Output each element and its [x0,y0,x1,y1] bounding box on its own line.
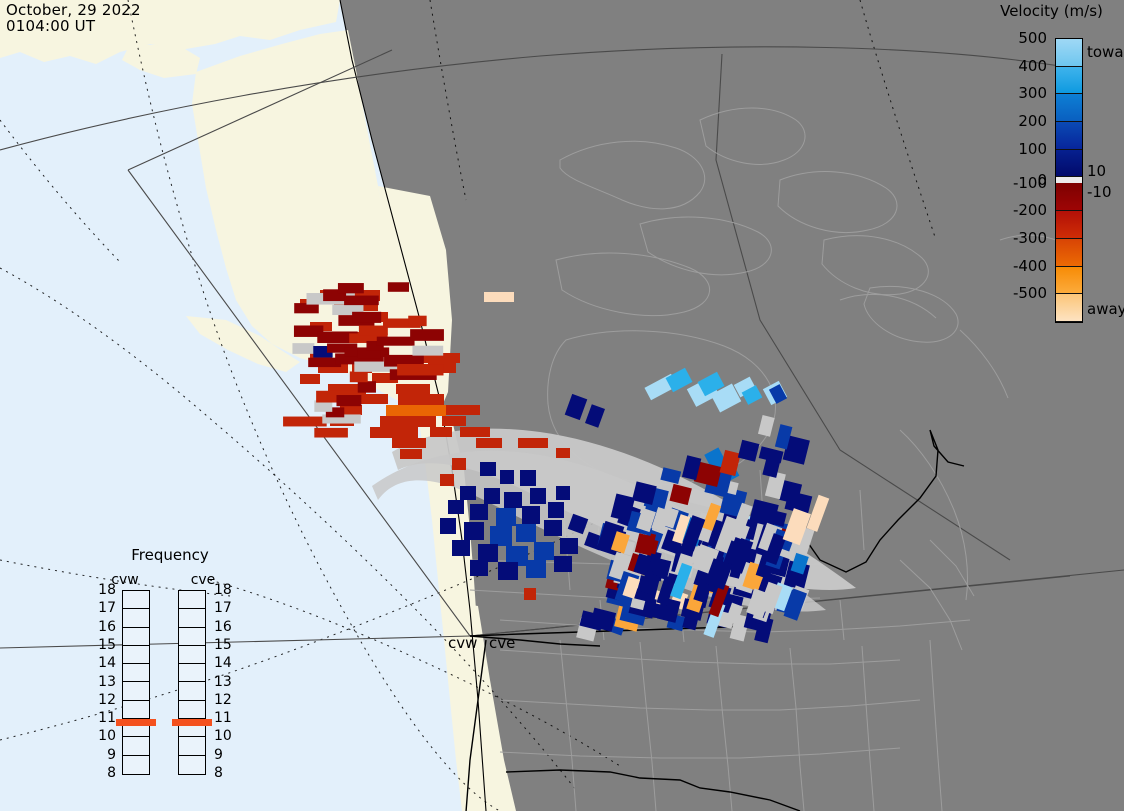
frequency-scale-label-10: 10 [94,728,116,744]
frequency-bar-segment [179,756,205,774]
velocity-cell-62[interactable] [498,562,518,580]
velocity-cell-24[interactable] [370,427,418,438]
velocity-cell-fan-nw[interactable] [412,346,443,356]
frequency-column-cve: cve18171615141312111098 [168,572,238,782]
frequency-bar-cve[interactable] [178,590,206,775]
colorbar-band--300---400 [1056,267,1082,295]
frequency-scale-label-14: 14 [214,655,232,671]
velocity-cell-fan-nw[interactable] [294,303,319,313]
frequency-bar-segment [179,682,205,700]
velocity-cell-50[interactable] [464,522,484,540]
frequency-scale-label-11: 11 [214,710,232,726]
velocity-cell-63[interactable] [526,560,546,578]
velocity-cell-fan-nw[interactable] [338,283,364,293]
velocity-cell-fan-nw[interactable] [292,343,314,354]
timestamp-block: October, 29 20220104:00 UT [6,2,141,34]
velocity-cell-37[interactable] [520,470,536,486]
frequency-marker-cve [172,719,212,726]
velocity-cell-31[interactable] [556,448,570,458]
frequency-bar-segment [123,591,149,609]
colorbar-tick-100: 100 [1018,140,1047,158]
frequency-bar-segment [123,737,149,755]
velocity-cell-41[interactable] [504,492,522,508]
superdarn-map-window: October, 29 20220104:00 UT Velocity (m/s… [0,0,1124,811]
colorbar-band--10---100 [1056,183,1082,211]
velocity-cell-47[interactable] [522,506,540,524]
velocity-cell-39[interactable] [460,486,476,500]
frequency-scale-label-15: 15 [214,637,232,653]
velocity-cell-fan-nw[interactable] [344,296,379,306]
velocity-cell-28[interactable] [476,438,502,448]
colorbar-positive-threshold-label: 10 [1087,162,1106,180]
colorbar-band--200---300 [1056,239,1082,267]
colorbar-band-10--100 [1056,150,1082,178]
colorbar-tick-neg400: -400 [1013,257,1047,275]
velocity-cell-44[interactable] [448,500,464,514]
frequency-bar-segment [123,664,149,682]
velocity-cell-26[interactable] [460,427,490,437]
frequency-marker-cvw [116,719,156,726]
velocity-cell-23[interactable] [442,416,466,426]
frequency-scale-label-10: 10 [214,728,232,744]
frequency-bar-segment [179,628,205,646]
colorbar-title: Velocity (m/s) [979,2,1124,20]
frequency-bar-segment [123,682,149,700]
colorbar-tick-500: 500 [1018,29,1047,47]
velocity-cell-36[interactable] [500,470,514,484]
frequency-bar-cvw[interactable] [122,590,150,775]
velocity-cell-40[interactable] [484,488,500,504]
velocity-cell-15[interactable] [396,384,430,394]
colorbar-band--400---500 [1056,294,1082,322]
velocity-cell-20[interactable] [446,405,480,415]
colorbar-tick-neg500: -500 [1013,284,1047,302]
velocity-cell-34[interactable] [452,458,466,470]
site-label-cve: cve [489,634,515,652]
velocity-cell-fan-nw[interactable] [283,417,327,427]
colorbar-tick-400: 400 [1018,57,1047,75]
frequency-scale-label-12: 12 [94,692,116,708]
velocity-cell-29[interactable] [518,438,548,448]
frequency-scale-label-18: 18 [94,582,116,598]
velocity-colorbar: Velocity (m/s) 5004003002001000-100-200-… [975,0,1124,340]
velocity-cell-fan-nw[interactable] [336,395,361,406]
frequency-scale-label-16: 16 [214,619,232,635]
frequency-bar-segment [179,609,205,627]
velocity-cell-25[interactable] [430,427,452,437]
velocity-cell-fan-nw[interactable] [410,329,444,341]
colorbar-tick-300: 300 [1018,84,1047,102]
colorbar-band-300--400 [1056,67,1082,95]
velocity-cell-48[interactable] [548,502,564,518]
colorbar-tick-neg100: -100 [1013,174,1047,192]
velocity-cell-19[interactable] [386,405,446,416]
frequency-scale-label-18: 18 [214,582,232,598]
frequency-bar-segment [179,646,205,664]
velocity-cell-22[interactable] [380,416,436,427]
frequency-scale-label-11: 11 [94,710,116,726]
velocity-cell-38[interactable] [440,474,454,486]
frequency-scale-label-8: 8 [94,765,116,781]
velocity-cell-fan-nw[interactable] [388,282,409,292]
velocity-cell-87[interactable] [524,588,536,600]
velocity-cell-17[interactable] [398,394,444,405]
velocity-cell-46[interactable] [496,508,516,526]
velocity-cell-64[interactable] [554,556,572,572]
velocity-cell-13[interactable] [300,374,320,384]
velocity-cell-58[interactable] [534,542,554,560]
velocity-cell-49[interactable] [440,518,456,534]
frequency-scale-label-9: 9 [94,747,116,763]
frequency-bar-segment [179,701,205,719]
colorbar-away-label: away [1087,300,1124,318]
frequency-scale-label-13: 13 [94,674,116,690]
velocity-cell-84[interactable] [484,292,514,302]
frequency-scale-label-13: 13 [214,674,232,690]
colorbar-toward-label: toward [1087,43,1124,61]
frequency-column-cvw: cvw18171615141312111098 [90,572,160,782]
frequency-scale-label-17: 17 [214,600,232,616]
colorbar-gradient-bar[interactable] [1055,38,1083,323]
velocity-cell-fan-nw[interactable] [352,312,381,323]
velocity-cell-52[interactable] [516,524,536,542]
colorbar-tick-neg200: -200 [1013,201,1047,219]
frequency-title: Frequency [90,546,250,564]
colorbar-tick-neg300: -300 [1013,229,1047,247]
frequency-legend: Frequency cvw18171615141312111098cve1817… [90,546,250,791]
velocity-cell-fan-nw[interactable] [358,381,376,392]
frequency-scale-label-14: 14 [94,655,116,671]
velocity-cell-fan-nw[interactable] [314,428,348,438]
colorbar-negative-threshold-label: -10 [1087,183,1112,201]
velocity-cell-53[interactable] [544,520,562,536]
velocity-cell-42[interactable] [530,488,546,504]
frequency-scale-label-12: 12 [214,692,232,708]
frequency-bar-segment [123,628,149,646]
velocity-cell-61[interactable] [470,560,488,576]
frequency-bar-segment [179,664,205,682]
velocity-cell-56[interactable] [478,544,498,562]
frequency-scale-label-8: 8 [214,765,223,781]
velocity-cell-45[interactable] [470,504,488,520]
colorbar-band-200--300 [1056,94,1082,122]
velocity-cell-27[interactable] [392,438,426,448]
velocity-cell-55[interactable] [452,540,470,556]
colorbar-band--100---200 [1056,211,1082,239]
velocity-cell-fan-nw[interactable] [377,337,415,346]
frequency-scale-label-16: 16 [94,619,116,635]
colorbar-band-400--500 [1056,39,1082,67]
velocity-cell-35[interactable] [480,462,496,476]
frequency-bar-segment [123,756,149,774]
velocity-cell-30[interactable] [400,449,422,459]
velocity-cell-fan-nw[interactable] [408,316,426,326]
frequency-scale-label-15: 15 [94,637,116,653]
frequency-bar-segment [179,737,205,755]
frequency-bar-segment [179,591,205,609]
velocity-cell-59[interactable] [560,538,578,554]
frequency-scale-label-17: 17 [94,600,116,616]
velocity-cell-fan-nw[interactable] [397,364,443,375]
frequency-bar-segment [123,701,149,719]
velocity-cell-fan-nw[interactable] [350,371,368,382]
velocity-cell-51[interactable] [490,526,512,546]
colorbar-band-100--200 [1056,122,1082,150]
time-text: 0104:00 UT [6,17,95,35]
colorbar-tick-labels: 5004003002001000-100-200-300-400-500 [975,38,1051,323]
frequency-bar-segment [123,609,149,627]
velocity-cell-43[interactable] [556,486,570,500]
site-label-cvw: cvw [448,634,477,652]
frequency-scale-label-9: 9 [214,747,223,763]
frequency-bar-segment [123,646,149,664]
colorbar-tick-200: 200 [1018,112,1047,130]
